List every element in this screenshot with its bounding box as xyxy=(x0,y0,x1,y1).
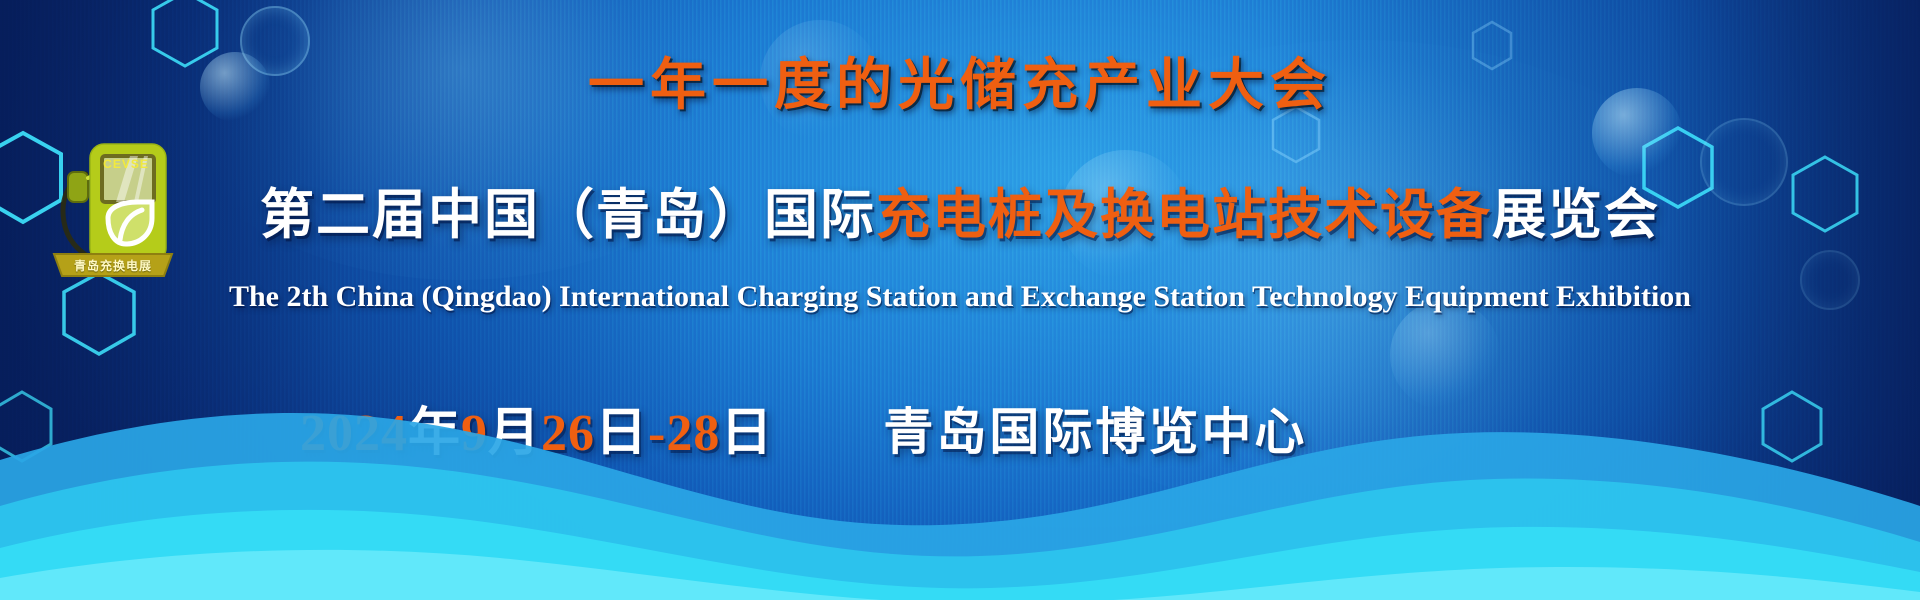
title-part-white-1: 第二届中国（青岛）国际 xyxy=(260,185,876,245)
decorative-waves xyxy=(0,310,1920,600)
title-part-orange: 充电桩及换电站技术设备 xyxy=(876,185,1492,245)
title-part-white-2: 展览会 xyxy=(1492,185,1660,245)
logo-badge-label: 青岛充换电展 xyxy=(46,257,180,274)
banner-title: 第二届中国（青岛）国际充电桩及换电站技术设备展览会 xyxy=(0,188,1920,243)
exhibition-banner: 一年一度的光储充产业大会 第二届中国（青岛）国际充电桩及换电站技术设备展览会 T… xyxy=(0,0,1920,600)
logo-screen-label: CEVSE xyxy=(90,157,162,171)
banner-subtitle-english: The 2th China (Qingdao) International Ch… xyxy=(0,280,1920,314)
banner-headline: 一年一度的光储充产业大会 xyxy=(0,40,1920,121)
event-logo: CEVSE 青岛充换电展 xyxy=(46,122,180,280)
